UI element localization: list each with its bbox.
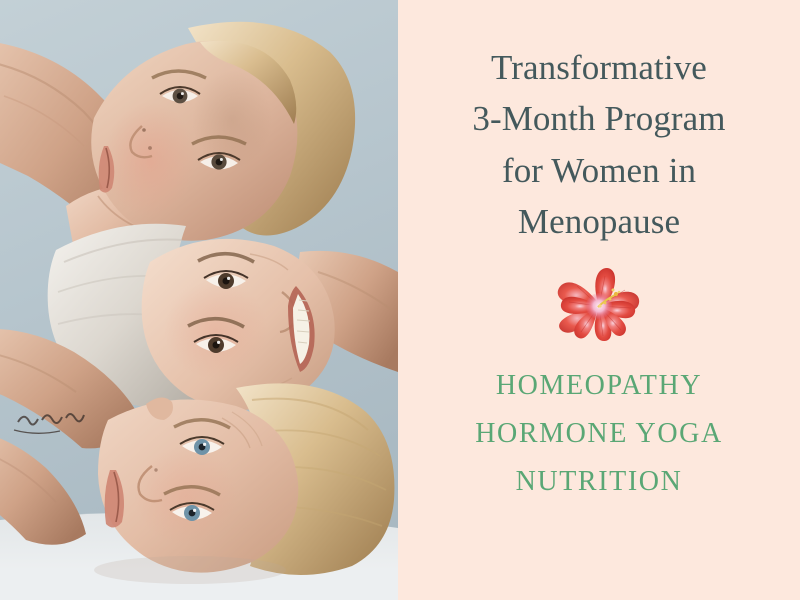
headline-line-2: 3-Month Program xyxy=(419,93,779,144)
hibiscus-flower-icon xyxy=(547,262,651,346)
text-panel: Transformative 3-Month Program for Women… xyxy=(398,0,800,600)
service-line-1: HOMEOPATHY xyxy=(419,362,779,410)
headline: Transformative 3-Month Program for Women… xyxy=(419,42,779,248)
headline-line-1: Transformative xyxy=(419,42,779,93)
three-women-photo xyxy=(0,0,398,600)
photo-panel xyxy=(0,0,398,600)
headline-line-3: for Women in xyxy=(419,145,779,196)
headline-line-4: Menopause xyxy=(419,196,779,247)
ornament-divider xyxy=(547,262,651,346)
poster-canvas: Transformative 3-Month Program for Women… xyxy=(0,0,800,600)
services-list: HOMEOPATHY HORMONE YOGA NUTRITION xyxy=(419,362,779,506)
service-line-2: HORMONE YOGA xyxy=(419,410,779,458)
service-line-3: NUTRITION xyxy=(419,458,779,506)
